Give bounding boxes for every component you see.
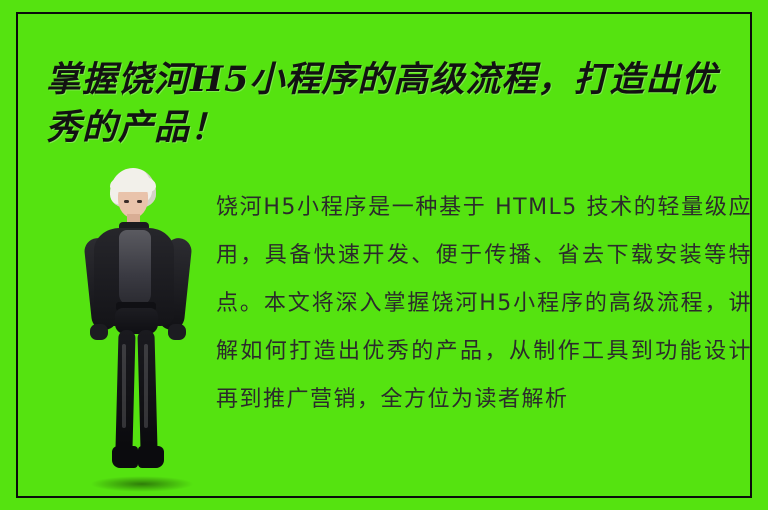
poster-canvas: 掌握饶河H5小程序的高级流程，打造出优秀的产品！ 饶河H5小程序是一种基于 HT… bbox=[0, 0, 768, 510]
figure-boot-left bbox=[112, 446, 138, 468]
figure-boot-right bbox=[138, 446, 164, 468]
figure-hand-left bbox=[90, 324, 108, 340]
figure-shadow bbox=[90, 476, 194, 492]
article-body: 饶河H5小程序是一种基于 HTML5 技术的轻量级应用，具备快速开发、便于传播、… bbox=[216, 184, 752, 424]
figure-leg-highlight-left bbox=[122, 344, 126, 428]
figure-eye-left bbox=[124, 200, 129, 203]
figure-torso bbox=[119, 230, 151, 306]
figure-leg-highlight-right bbox=[144, 344, 148, 428]
figure-hand-right bbox=[168, 324, 186, 340]
figure-eye-right bbox=[137, 200, 142, 203]
figure-bangs bbox=[110, 176, 156, 192]
female-character-illustration bbox=[72, 168, 208, 488]
page-title: 掌握饶河H5小程序的高级流程，打造出优秀的产品！ bbox=[46, 56, 736, 152]
